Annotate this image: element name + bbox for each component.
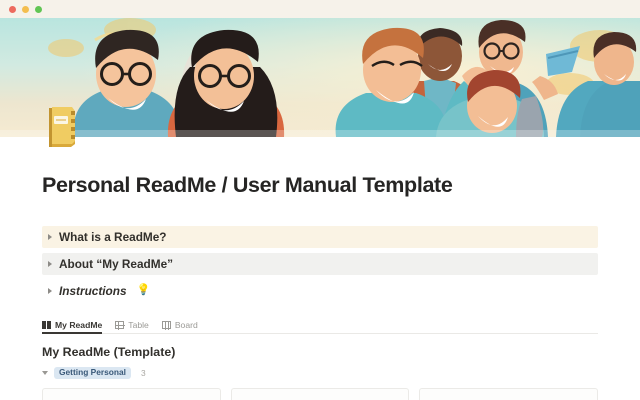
gallery-card[interactable]: Tell us the things or actions that drive… xyxy=(419,388,598,400)
tab-table[interactable]: Table xyxy=(115,320,149,333)
toggle-about-my-readme[interactable]: About “My ReadMe” xyxy=(42,253,598,275)
page-title: Personal ReadMe / User Manual Template xyxy=(42,137,598,199)
toggle-label: Instructions xyxy=(59,284,127,298)
chevron-right-icon[interactable] xyxy=(48,288,52,294)
page-body: Personal ReadMe / User Manual Template W… xyxy=(0,137,640,400)
toggle-what-is-a-readme[interactable]: What is a ReadMe? xyxy=(42,226,598,248)
gallery-card[interactable]: Think back to a time you were at your be… xyxy=(231,388,410,400)
table-icon xyxy=(115,321,124,328)
window-titlebar xyxy=(0,0,640,18)
gallery-card[interactable]: List the qualities and traits you strive… xyxy=(42,388,221,400)
toggle-list: What is a ReadMe? About “My ReadMe” Inst… xyxy=(42,226,598,302)
app-window: Personal ReadMe / User Manual Template W… xyxy=(0,0,640,400)
chevron-down-icon[interactable] xyxy=(42,371,48,375)
tab-label: Table xyxy=(128,320,149,330)
database-view-title: My ReadMe (Template) xyxy=(42,345,598,359)
toggle-instructions[interactable]: Instructions 💡 xyxy=(42,280,598,302)
gallery-icon xyxy=(42,321,51,329)
gallery-cards: List the qualities and traits you strive… xyxy=(42,388,598,400)
page-cover-image xyxy=(0,18,640,137)
toggle-label: What is a ReadMe? xyxy=(59,230,167,244)
group-header[interactable]: Getting Personal 3 xyxy=(42,366,598,380)
group-name-badge[interactable]: Getting Personal xyxy=(54,367,131,380)
tab-my-readme[interactable]: My ReadMe xyxy=(42,320,102,333)
tab-label: Board xyxy=(175,320,198,330)
toggle-label: About “My ReadMe” xyxy=(59,257,173,271)
chevron-right-icon[interactable] xyxy=(48,261,52,267)
lightbulb-icon: 💡 xyxy=(137,285,151,296)
inline-database: My ReadMe Table Board xyxy=(42,315,598,400)
tab-label: My ReadMe xyxy=(55,320,102,330)
group-item-count: 3 xyxy=(141,368,146,378)
minimize-button[interactable] xyxy=(22,6,29,13)
notebook-emoji-icon[interactable] xyxy=(44,105,78,147)
tab-board[interactable]: Board xyxy=(162,320,198,333)
board-icon xyxy=(162,321,171,328)
maximize-button[interactable] xyxy=(35,6,42,13)
chevron-right-icon[interactable] xyxy=(48,234,52,240)
database-view-tabs: My ReadMe Table Board xyxy=(42,315,598,334)
close-button[interactable] xyxy=(9,6,16,13)
